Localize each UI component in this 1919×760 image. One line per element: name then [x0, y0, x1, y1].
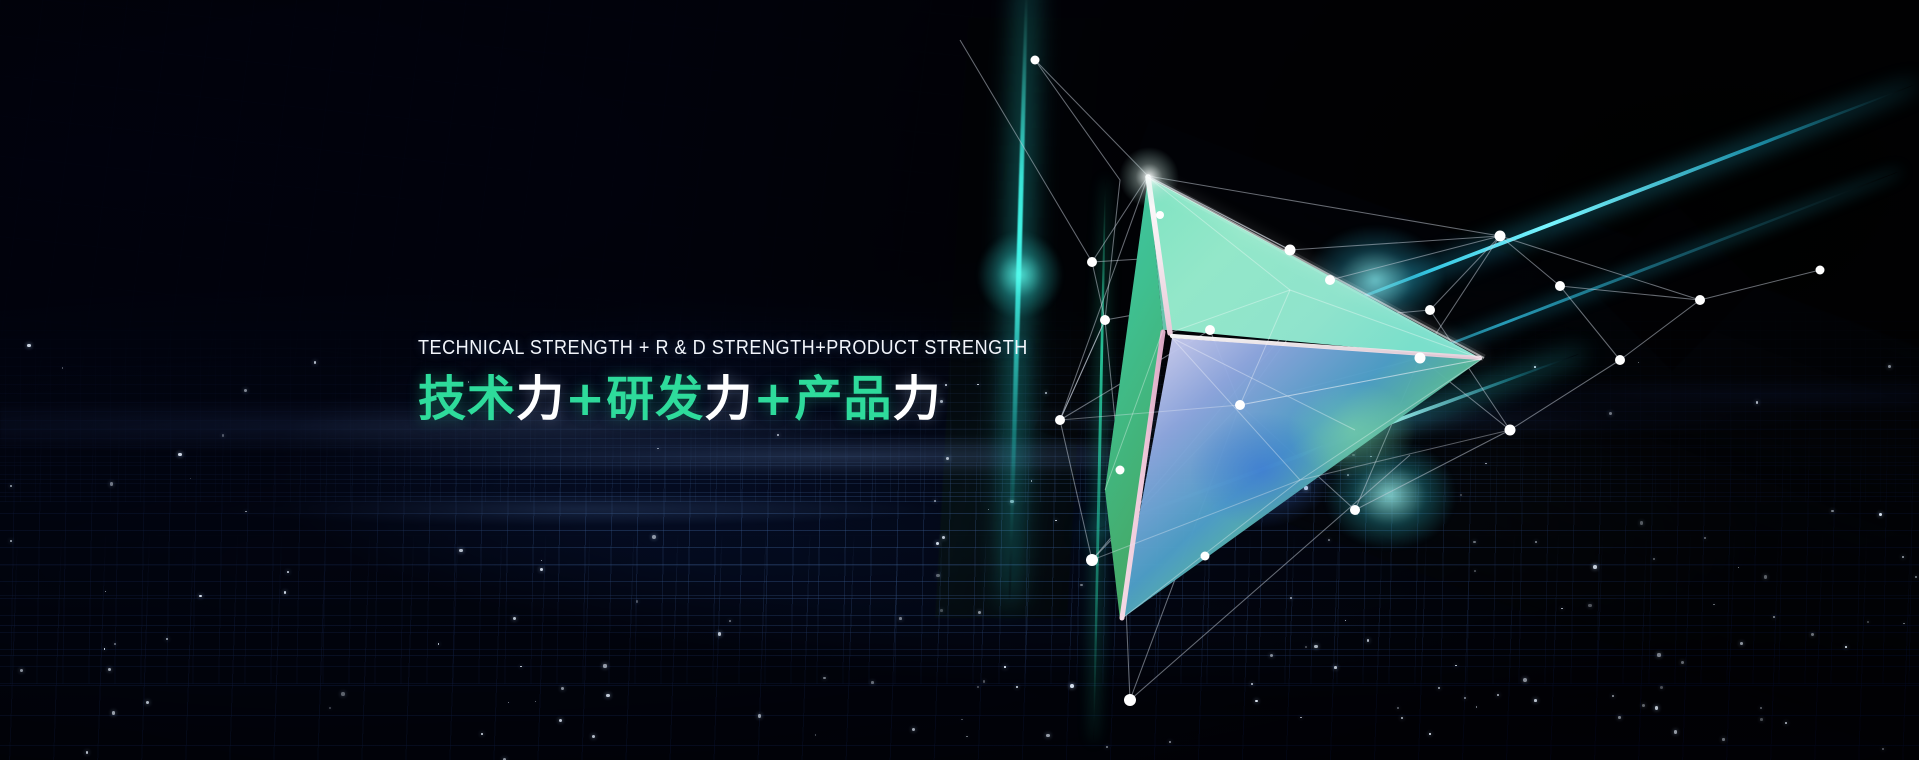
headline-cn-seg-4: 力	[704, 373, 753, 427]
headline-cn-seg-2: +	[565, 373, 606, 427]
headline-cn-seg-1: 力	[516, 373, 565, 427]
hero-banner: TECHNICAL STRENGTH + R & D STRENGTH+PROD…	[0, 0, 1919, 760]
headline-english: TECHNICAL STRENGTH + R & D STRENGTH+PROD…	[418, 338, 981, 359]
headline-cn-seg-3: 研发	[606, 373, 704, 427]
headline-cn-seg-6: 产品	[795, 373, 893, 427]
headline-chinese: 技术力+研发力+产品力	[418, 373, 1058, 427]
headline-cn-seg-7: 力	[893, 373, 942, 427]
headline-block: TECHNICAL STRENGTH + R & D STRENGTH+PROD…	[418, 338, 1058, 426]
headline-cn-seg-5: +	[753, 373, 794, 427]
headline-cn-seg-0: 技术	[418, 373, 516, 427]
